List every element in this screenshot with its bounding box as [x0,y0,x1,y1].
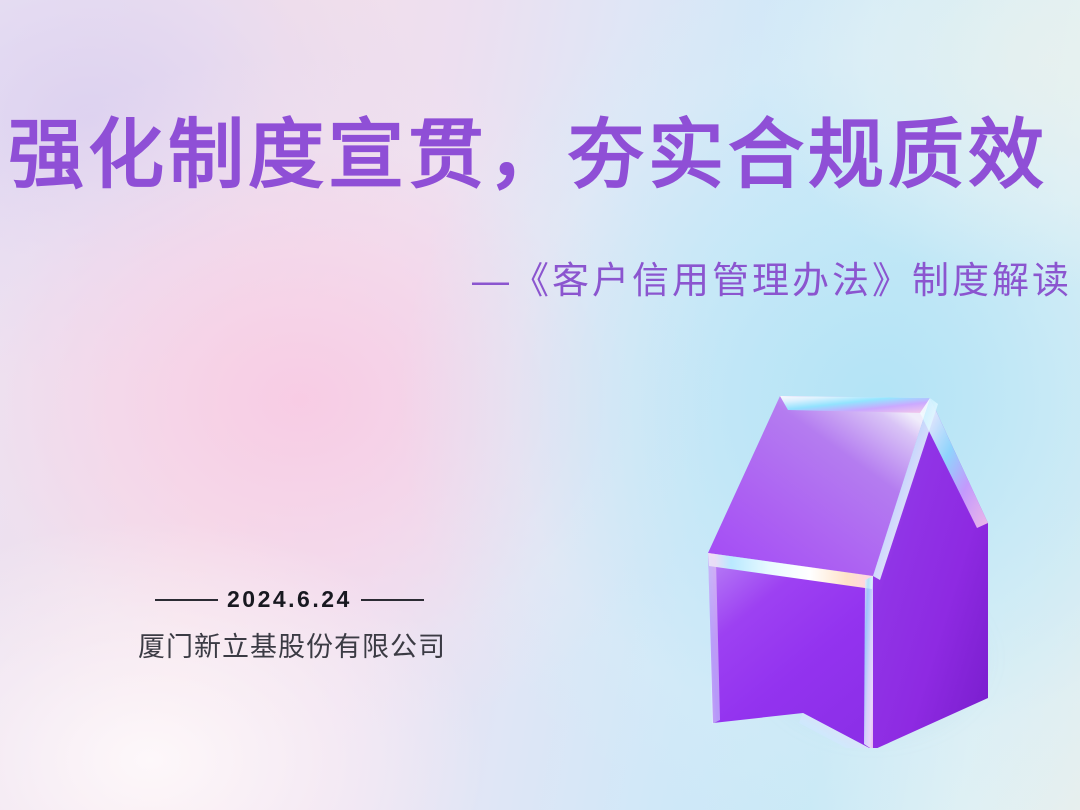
date-row: 2024.6.24 [155,588,424,611]
cube-graphic [688,368,1080,748]
company-name: 厦门新立基股份有限公司 [138,634,446,661]
date-rule-left [155,599,218,601]
cube-icon [688,368,1080,748]
presentation-slide: 强化制度宣贯，夯实合规质效 —《客户信用管理办法》制度解读 2024.6.24 … [0,0,1080,810]
date-rule-right [361,599,424,601]
date-text: 2024.6.24 [227,588,352,611]
page-subtitle: —《客户信用管理办法》制度解读 [472,262,1072,299]
page-title: 强化制度宣贯，夯实合规质效 [8,118,1076,194]
